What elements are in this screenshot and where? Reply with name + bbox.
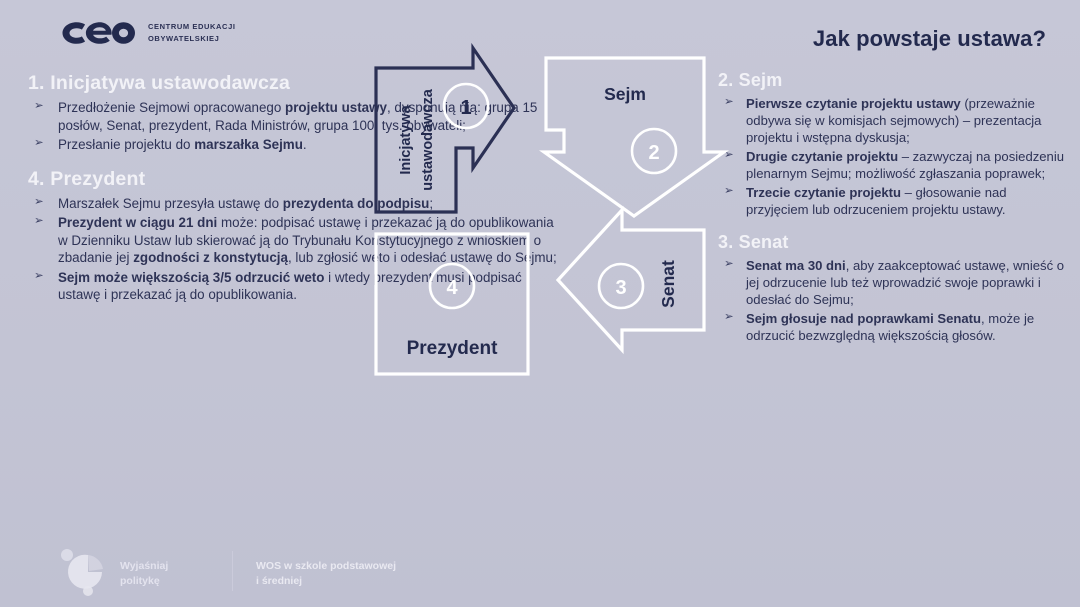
bullet-text-emphasis: zgodności z konstytucją bbox=[133, 250, 288, 265]
ceo-subtitle-line1: CENTRUM EDUKACJI bbox=[148, 21, 236, 33]
bullet-marker-icon: ➢ bbox=[724, 257, 734, 272]
footer-brand: Wyjaśniaj politykę bbox=[120, 559, 168, 589]
bullet-text: Marszałek Sejmu przesyła ustawę do bbox=[58, 196, 283, 211]
bullet-marker-icon: ➢ bbox=[724, 148, 734, 163]
step-1-number: 1 bbox=[460, 97, 471, 119]
section-heading-2: 2. Sejm bbox=[718, 70, 1070, 91]
bullet-marker-icon: ➢ bbox=[34, 136, 44, 151]
step-1-label-line2: ustawodawcza bbox=[420, 88, 436, 190]
bullet-marker-icon: ➢ bbox=[34, 195, 44, 210]
page-title: Jak powstaje ustawa? bbox=[813, 26, 1046, 52]
bullet-marker-icon: ➢ bbox=[724, 95, 734, 110]
diagram-step-1[interactable]: 1 Inicjatywa ustawodawcza bbox=[376, 48, 514, 212]
section-heading-3: 3. Senat bbox=[718, 232, 1070, 253]
footer-note-line2: i średniej bbox=[256, 574, 396, 589]
bullet-marker-icon: ➢ bbox=[724, 310, 734, 325]
bullet-text-emphasis: Senat ma 30 dni bbox=[746, 258, 846, 273]
bullet-list-2: ➢Pierwsze czytanie projektu ustawy (prze… bbox=[718, 95, 1070, 218]
step-1-label-line1: Inicjatywa bbox=[398, 104, 414, 174]
slide-root: CENTRUM EDUKACJI OBYWATELSKIEJ Jak powst… bbox=[0, 0, 1080, 607]
slide-footer: Wyjaśniaj politykę WOS w szkole podstawo… bbox=[0, 539, 1080, 607]
bullet-text-emphasis: Pierwsze czytanie projektu ustawy bbox=[746, 96, 964, 111]
diagram-step-2[interactable]: Sejm 2 bbox=[544, 58, 726, 216]
footer-brand-line2: politykę bbox=[120, 574, 168, 589]
bullet-list-3: ➢Senat ma 30 dni, aby zaakceptować ustaw… bbox=[718, 257, 1070, 344]
ceo-wordmark-icon bbox=[58, 18, 136, 48]
bullet-text-emphasis: Trzecie czytanie projektu bbox=[746, 185, 905, 200]
ceo-logo: CENTRUM EDUKACJI OBYWATELSKIEJ bbox=[58, 18, 236, 48]
diagram-step-3[interactable]: 3 Senat bbox=[558, 210, 704, 350]
step-2-label: Sejm bbox=[604, 84, 646, 104]
bullet-marker-icon: ➢ bbox=[34, 269, 44, 284]
diagram-step-4[interactable]: 4 Prezydent bbox=[376, 234, 528, 374]
bullet-text-emphasis: Sejm może większością 3/5 odrzucić weto bbox=[58, 270, 328, 285]
footer-note: WOS w szkole podstawowej i średniej bbox=[256, 559, 396, 589]
list-item: ➢Senat ma 30 dni, aby zaakceptować ustaw… bbox=[718, 257, 1070, 308]
step-4-label: Prezydent bbox=[407, 338, 498, 359]
bullet-text-emphasis: Drugie czytanie projektu bbox=[746, 149, 902, 164]
bullet-marker-icon: ➢ bbox=[34, 214, 44, 229]
right-column: 2. Sejm ➢Pierwsze czytanie projektu usta… bbox=[718, 70, 1070, 346]
footer-note-line1: WOS w szkole podstawowej bbox=[256, 559, 396, 574]
bullet-marker-icon: ➢ bbox=[724, 184, 734, 199]
bullet-text: Przesłanie projektu do bbox=[58, 137, 194, 152]
step-3-number: 3 bbox=[615, 277, 626, 299]
list-item: ➢Drugie czytanie projektu – zazwyczaj na… bbox=[718, 148, 1070, 182]
bullet-text-emphasis: Prezydent w ciągu 21 dni bbox=[58, 215, 221, 230]
bullet-text-emphasis: marszałka Sejmu bbox=[194, 137, 303, 152]
footer-brand-line1: Wyjaśniaj bbox=[120, 559, 168, 574]
list-item: ➢Sejm głosuje nad poprawkami Senatu, moż… bbox=[718, 310, 1070, 344]
step-4-number: 4 bbox=[446, 277, 458, 299]
bullet-text: . bbox=[303, 137, 307, 152]
ceo-logo-subtitle: CENTRUM EDUKACJI OBYWATELSKIEJ bbox=[148, 21, 236, 44]
bullet-text: Przedłożenie Sejmowi opracowanego bbox=[58, 100, 285, 115]
bullet-text-emphasis: Sejm głosuje nad poprawkami Senatu bbox=[746, 311, 981, 326]
list-item: ➢Trzecie czytanie projektu – głosowanie … bbox=[718, 184, 1070, 218]
legislative-process-diagram: 1 Inicjatywa ustawodawcza Sejm 2 3 Senat bbox=[368, 44, 716, 396]
bullet-marker-icon: ➢ bbox=[34, 99, 44, 114]
list-item: ➢Pierwsze czytanie projektu ustawy (prze… bbox=[718, 95, 1070, 146]
wyjasniaj-polityke-logo-icon bbox=[58, 547, 114, 599]
step-2-number: 2 bbox=[648, 142, 659, 164]
footer-divider bbox=[232, 551, 233, 591]
ceo-subtitle-line2: OBYWATELSKIEJ bbox=[148, 33, 236, 45]
step-3-label: Senat bbox=[658, 260, 678, 308]
